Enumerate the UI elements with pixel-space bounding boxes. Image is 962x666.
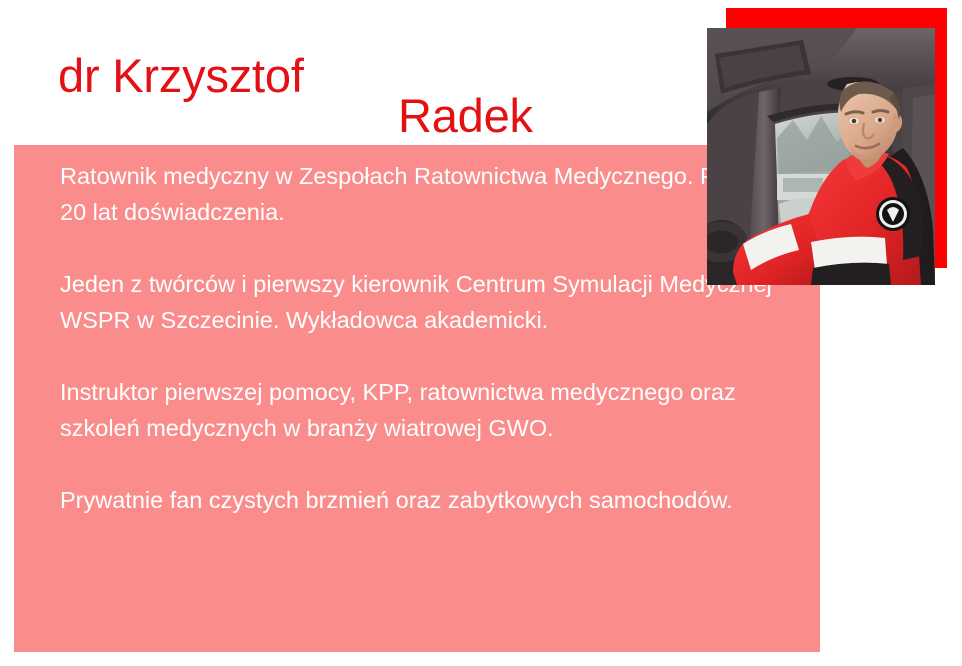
bio-text-block: Ratownik medyczny w Zespołach Ratownictw…	[60, 158, 800, 518]
bio-paragraph: Instruktor pierwszej pomocy, KPP, ratown…	[60, 374, 800, 446]
portrait-photo-block	[690, 0, 962, 300]
page-title-second-line: Radek	[398, 92, 533, 139]
portrait-photo	[707, 28, 935, 285]
bio-paragraph: Prywatnie fan czystych brzmień oraz zaby…	[60, 482, 800, 518]
page-title-first-line: dr Krzysztof	[58, 52, 304, 99]
bio-paragraph: Ratownik medyczny w Zespołach Ratownictw…	[60, 158, 800, 230]
slide-canvas: dr Krzysztof Radek Ratownik medyczny w Z…	[0, 0, 962, 666]
bio-paragraph: Jeden z twórców i pierwszy kierownik Cen…	[60, 266, 800, 338]
portrait-photo-artwork	[707, 28, 935, 285]
